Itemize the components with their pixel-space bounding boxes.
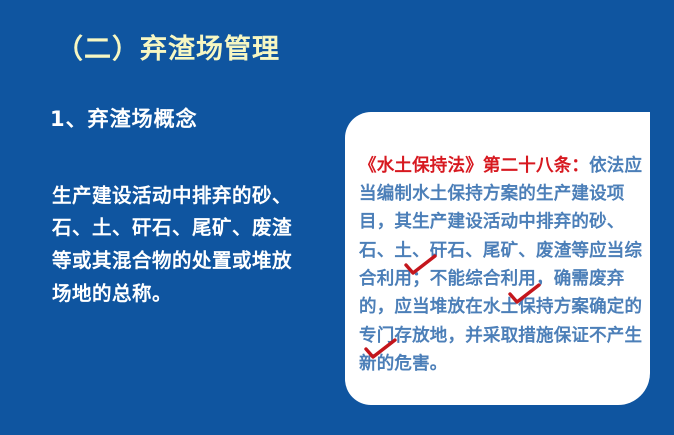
- definition-paragraph: 生产建设活动中排弃的砂、石、土、矸石、尾矿、废渣等或其混合物的处置或堆放场地的总…: [52, 180, 302, 311]
- law-quote-heading: 《水土保持法》第二十八条：: [359, 156, 589, 176]
- section-subtitle: 1、弃渣场概念: [50, 103, 198, 133]
- page-title: （二）弃渣场管理: [56, 34, 356, 65]
- law-quote-body: 依法应当编制水土保持方案的生产建设项目，其生产建设活动中排弃的砂、石、土、矸石、…: [359, 156, 642, 374]
- presentation-slide: （二）弃渣场管理 1、弃渣场概念 生产建设活动中排弃的砂、石、土、矸石、尾矿、废…: [0, 0, 674, 435]
- law-quote-text: 《水土保持法》第二十八条：依法应当编制水土保持方案的生产建设项目，其生产建设活动…: [359, 152, 659, 379]
